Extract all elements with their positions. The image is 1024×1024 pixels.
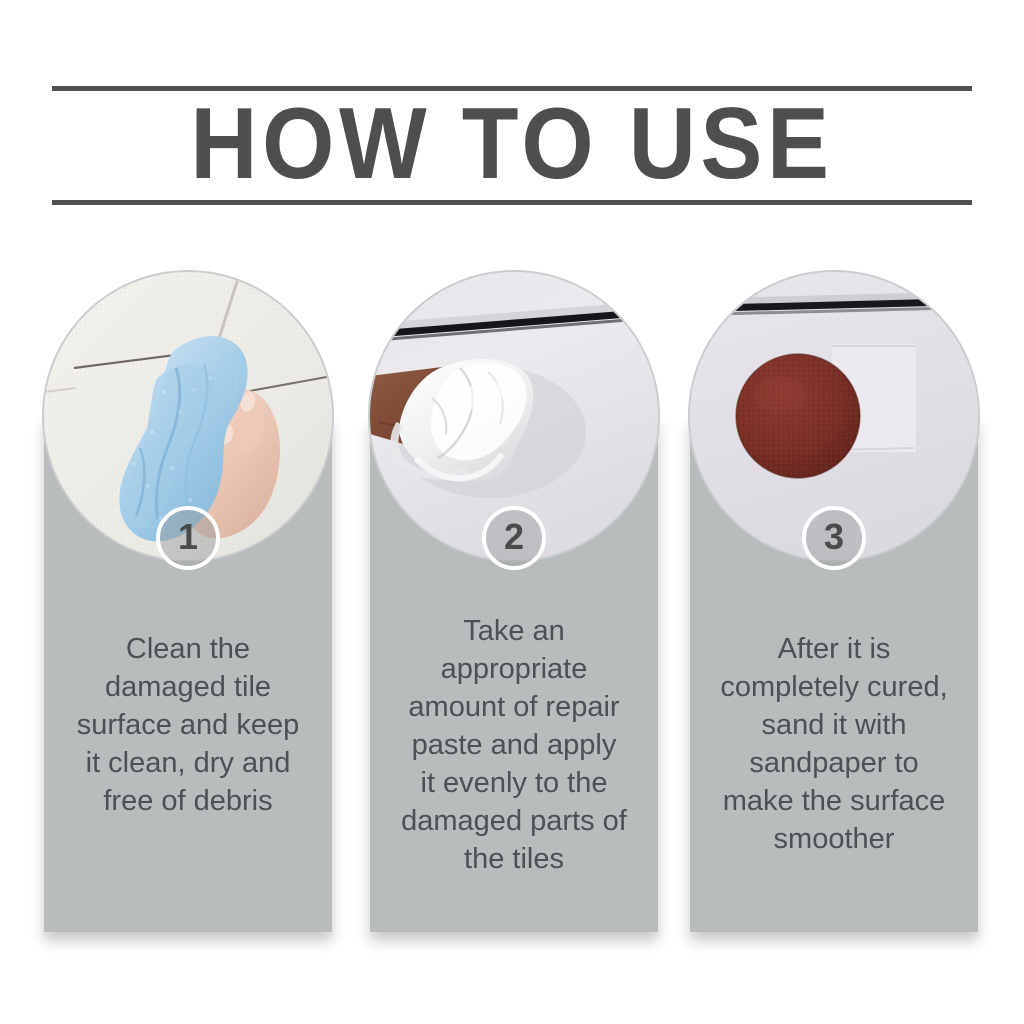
step-card-3: 3 After it is completely cured, sand it … — [690, 272, 978, 932]
step-text-3: After it is completely cured, sand it wi… — [696, 630, 972, 858]
step-text-2: Take an appropriate amount of repair pas… — [376, 612, 652, 878]
step-text-line: the tiles — [376, 840, 652, 878]
step-text-line: sandpaper to — [696, 744, 972, 782]
step-badge-1: 1 — [156, 506, 220, 570]
step-badge-3: 3 — [802, 506, 866, 570]
step-text-line: smoother — [696, 820, 972, 858]
how-to-use-infographic: HOW TO USE — [0, 0, 1024, 1024]
steps-container: 1 Clean the damaged tile surface and kee… — [0, 0, 1024, 1024]
step-text-line: appropriate — [376, 650, 652, 688]
step-text-line: Clean the — [50, 630, 326, 668]
step-text-line: damaged parts of — [376, 802, 652, 840]
step-text-line: completely cured, — [696, 668, 972, 706]
step-text-line: free of debris — [50, 782, 326, 820]
step-text-line: it evenly to the — [376, 764, 652, 802]
step-text-line: surface and keep — [50, 706, 326, 744]
step-number-1: 1 — [178, 519, 198, 555]
step-text-line: make the surface — [696, 782, 972, 820]
step-card-2: 2 Take an appropriate amount of repair p… — [370, 272, 658, 932]
step-text-line: amount of repair — [376, 688, 652, 726]
step-text-line: paste and apply — [376, 726, 652, 764]
step-number-2: 2 — [504, 519, 524, 555]
step-text-line: damaged tile — [50, 668, 326, 706]
step-card-1: 1 Clean the damaged tile surface and kee… — [44, 272, 332, 932]
step-number-3: 3 — [824, 519, 844, 555]
step-text-1: Clean the damaged tile surface and keep … — [50, 630, 326, 820]
step-text-line: sand it with — [696, 706, 972, 744]
step-badge-2: 2 — [482, 506, 546, 570]
step-text-line: it clean, dry and — [50, 744, 326, 782]
step-text-line: After it is — [696, 630, 972, 668]
step-text-line: Take an — [376, 612, 652, 650]
